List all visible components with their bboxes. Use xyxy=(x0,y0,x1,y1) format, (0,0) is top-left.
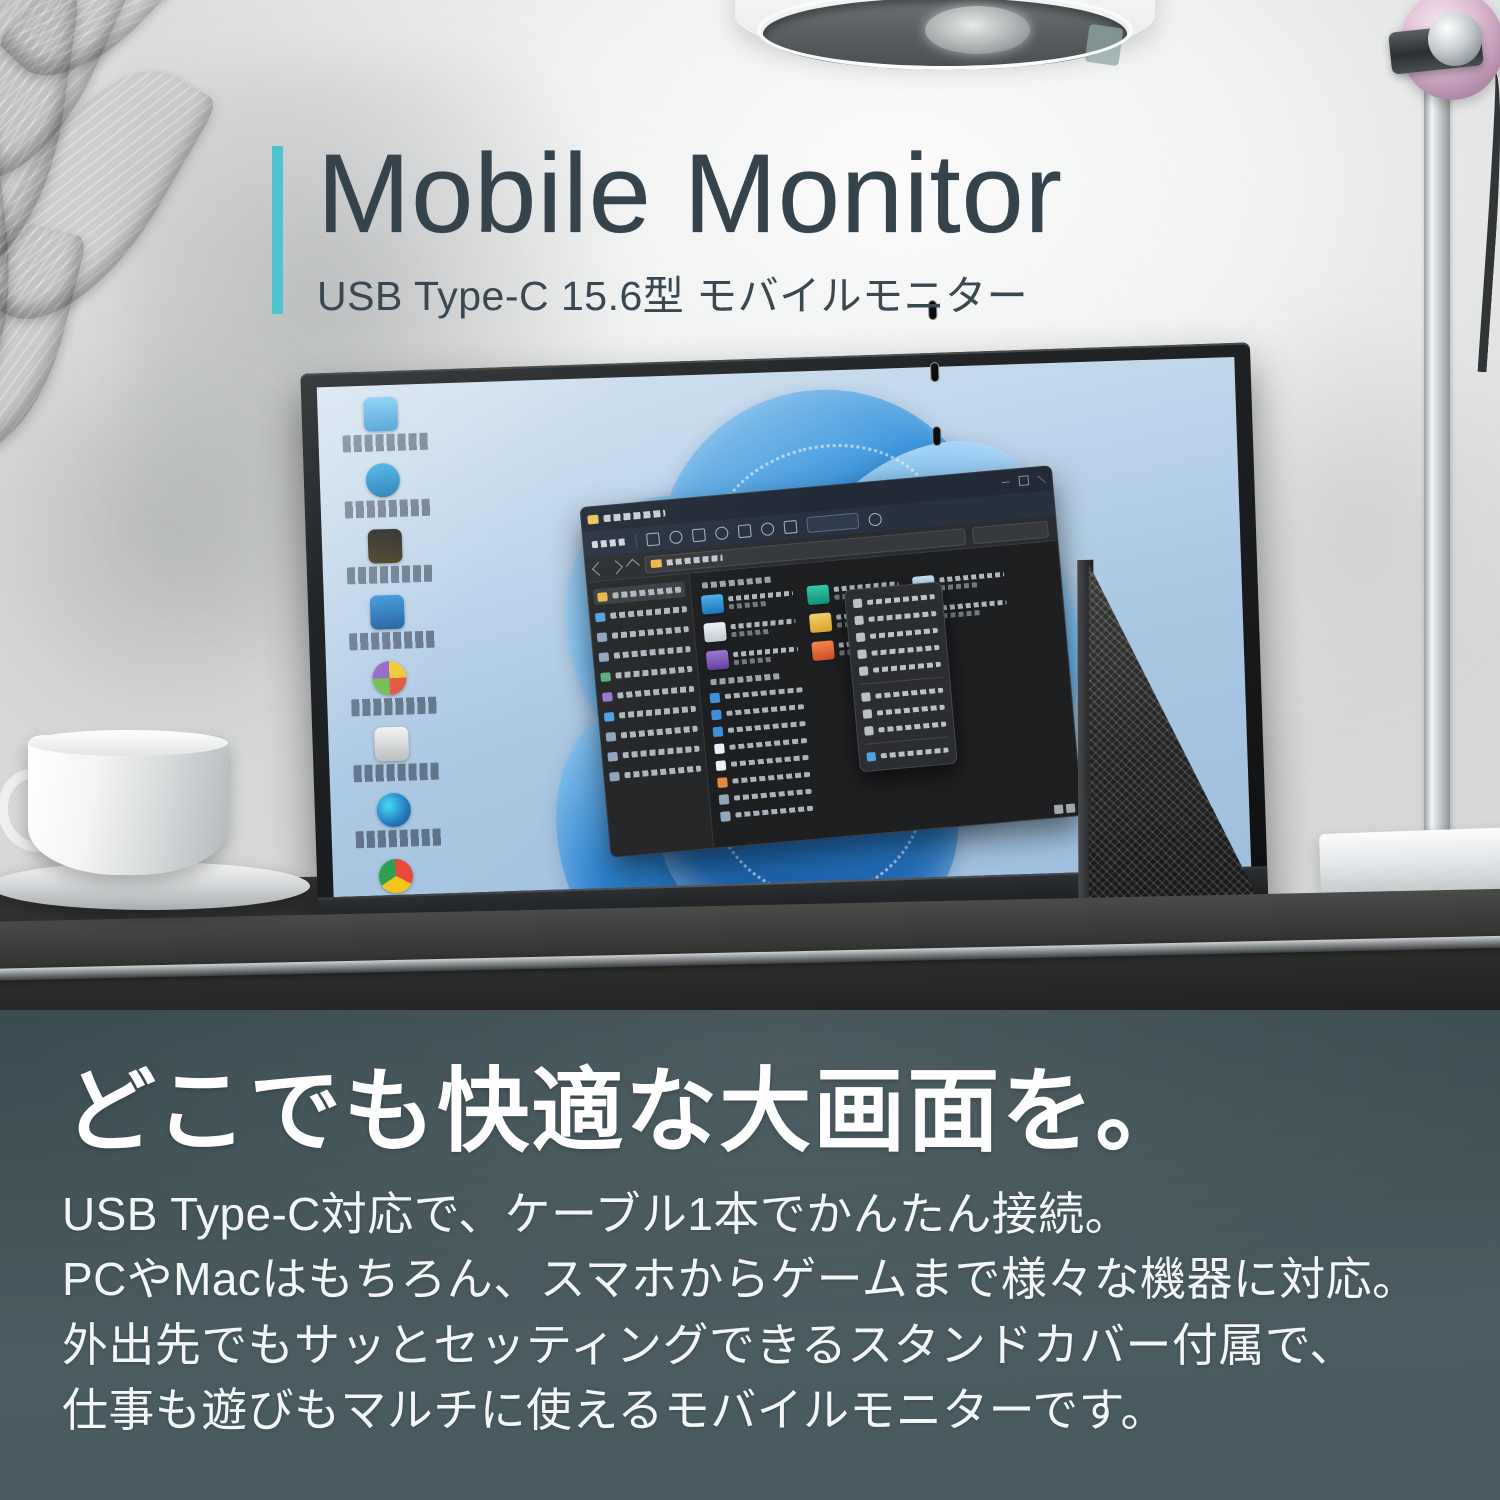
list-item[interactable] xyxy=(706,643,799,670)
ad-page: Mobile Monitor USB Type-C 15.6型 モバイルモニター… xyxy=(0,0,1500,1500)
more-options-icon xyxy=(866,752,876,762)
microsoft-edge-icon xyxy=(376,792,411,827)
body-copy: USB Type-C対応で、ケーブル1本でかんたん接続。 PCやMacはもちろん… xyxy=(62,1182,1418,1443)
menu-label xyxy=(868,611,936,622)
chrome-floor-lamp xyxy=(1390,0,1500,890)
file-content-pane[interactable] xyxy=(690,541,1082,849)
app-icon xyxy=(703,622,727,643)
menu-label xyxy=(881,747,949,758)
file-icon xyxy=(714,743,725,754)
usb-c-port-icon[interactable] xyxy=(930,362,940,382)
penguin-app-icon xyxy=(374,727,409,762)
icon-label xyxy=(349,631,436,651)
usb-c-port-icon[interactable] xyxy=(932,426,942,446)
list-item[interactable] xyxy=(701,588,794,615)
pc-icon xyxy=(607,751,618,761)
nav-label xyxy=(622,746,699,759)
acer-icon xyxy=(370,595,405,630)
list-item[interactable] xyxy=(703,616,796,643)
google-chrome-icon xyxy=(378,858,413,893)
desktop-icon xyxy=(595,612,606,622)
file-name xyxy=(725,687,803,699)
file-name xyxy=(732,772,810,784)
star-icon xyxy=(597,592,608,602)
file-explorer-window[interactable] xyxy=(579,465,1082,858)
menu-label xyxy=(871,645,939,656)
group-header xyxy=(710,673,780,685)
menu-label xyxy=(878,722,946,733)
file-icon xyxy=(715,760,726,771)
nav-label xyxy=(617,686,694,699)
share-icon xyxy=(857,649,867,659)
file-icon xyxy=(719,794,730,805)
desktop-icon-chrome[interactable] xyxy=(352,857,454,897)
cut-icon[interactable] xyxy=(646,532,660,546)
headline: どこでも快適な大画面を。 xyxy=(64,1066,1189,1158)
page-subtitle: USB Type-C 15.6型 モバイルモニター xyxy=(317,262,1063,322)
menu-label xyxy=(873,662,941,673)
nav-label xyxy=(614,646,691,659)
item-label xyxy=(728,591,794,610)
nav-label xyxy=(610,606,687,619)
title-text-group: Mobile Monitor USB Type-C 15.6型 モバイルモニター xyxy=(317,140,1063,322)
lamp-base xyxy=(1319,826,1500,896)
nav-label xyxy=(615,666,692,679)
desktop-icon-colorful-app[interactable] xyxy=(346,659,448,724)
app-icon xyxy=(811,640,835,661)
more-icon[interactable] xyxy=(868,512,882,526)
file-name xyxy=(735,806,813,818)
desktop-icon-edge[interactable] xyxy=(350,791,452,856)
view-toggle[interactable] xyxy=(1054,803,1076,814)
send-to-icon xyxy=(864,726,874,736)
explorer-body xyxy=(587,541,1082,858)
network-icon xyxy=(609,771,620,781)
lamp-ball-joint xyxy=(1428,12,1482,66)
page-title: Mobile Monitor xyxy=(317,140,1063,248)
file-name xyxy=(729,738,807,750)
menu-label xyxy=(867,594,935,605)
desktop-icon-acer[interactable] xyxy=(344,593,446,658)
forward-icon[interactable] xyxy=(609,560,623,574)
nav-label xyxy=(612,626,689,639)
icon-label xyxy=(351,697,438,717)
delete-icon[interactable] xyxy=(761,522,775,536)
folder-icon xyxy=(701,594,725,615)
body-line-3: 外出先でもサッとセッティングできるスタンドカバー付属で、 xyxy=(62,1313,1418,1378)
icon-label xyxy=(353,763,440,783)
up-icon[interactable] xyxy=(626,559,640,573)
properties-icon xyxy=(863,709,873,719)
file-icon xyxy=(720,811,731,822)
icon-label xyxy=(356,828,443,848)
desktop-icon-column xyxy=(337,395,467,897)
window-controls[interactable] xyxy=(1001,474,1046,488)
new-button[interactable] xyxy=(591,538,625,548)
video-icon xyxy=(604,711,615,721)
description-panel: どこでも快適な大画面を。 USB Type-C対応で、ケーブル1本でかんたん接続… xyxy=(0,1010,1500,1500)
window-title xyxy=(603,509,665,521)
title-block: Mobile Monitor USB Type-C 15.6型 モバイルモニター xyxy=(272,140,1063,322)
folder-icon xyxy=(650,559,662,568)
accent-bar xyxy=(272,146,283,314)
nav-label xyxy=(619,706,696,719)
nav-item-network[interactable] xyxy=(609,760,702,784)
grid-view-icon[interactable] xyxy=(1066,803,1076,813)
menu-item[interactable] xyxy=(859,741,956,766)
app-icon xyxy=(706,650,730,671)
divider xyxy=(635,534,637,547)
file-name xyxy=(734,789,812,801)
paste-icon[interactable] xyxy=(692,528,706,542)
icon-label xyxy=(345,499,432,519)
cup-rim xyxy=(28,730,228,756)
details-view-icon[interactable] xyxy=(1054,804,1064,814)
compress-icon xyxy=(861,692,871,702)
lamp-pole xyxy=(1424,70,1450,860)
file-icon xyxy=(717,777,728,788)
music-icon xyxy=(602,692,613,702)
file-name xyxy=(731,755,809,767)
skype-icon xyxy=(365,463,400,498)
file-name xyxy=(728,721,806,733)
document-icon xyxy=(598,652,609,662)
folder-icon xyxy=(809,612,833,633)
menu-label xyxy=(875,688,943,699)
lamp-rim xyxy=(757,0,1133,70)
menu-label xyxy=(870,628,938,639)
icon-label xyxy=(342,433,429,453)
rename-icon[interactable] xyxy=(715,526,729,540)
desktop-icon-penguin[interactable] xyxy=(348,725,450,790)
leaf xyxy=(0,209,87,471)
item-label xyxy=(733,646,799,665)
desktop-icon-pc[interactable] xyxy=(337,395,439,460)
nav-label xyxy=(621,726,698,739)
cloud-icon xyxy=(606,731,617,741)
colorful-app-icon xyxy=(372,661,407,696)
body-line-4: 仕事も遊びもマルチに使えるモバイルモニターです。 xyxy=(62,1378,1418,1443)
item-label xyxy=(730,618,796,637)
picture-icon xyxy=(600,672,611,682)
folder-icon xyxy=(587,514,599,524)
sort-icon[interactable] xyxy=(783,519,797,533)
group-header xyxy=(702,576,772,588)
pc-icon xyxy=(363,397,398,432)
context-menu[interactable] xyxy=(844,581,958,772)
power-cable xyxy=(1466,72,1500,373)
item-label xyxy=(939,572,1005,591)
coffee-cup xyxy=(28,735,228,875)
item-label xyxy=(942,600,1008,619)
product-photo-scene: Mobile Monitor USB Type-C 15.6型 モバイルモニター xyxy=(0,0,1500,1010)
desktop-icon-dark-app[interactable] xyxy=(342,527,444,592)
close-icon[interactable] xyxy=(1037,475,1046,484)
menu-label xyxy=(877,705,945,716)
download-icon xyxy=(597,632,608,642)
pin-icon xyxy=(856,632,866,642)
icon-label xyxy=(347,565,434,585)
plant-leaves xyxy=(0,0,260,440)
file-icon xyxy=(712,726,723,737)
share-icon[interactable] xyxy=(738,524,752,538)
file-icon xyxy=(709,692,720,703)
body-line-1: USB Type-C対応で、ケーブル1本でかんたん接続。 xyxy=(62,1182,1418,1247)
desktop-icon-recycle-bin[interactable] xyxy=(339,461,441,526)
search-input[interactable] xyxy=(972,520,1049,544)
open-with-icon xyxy=(854,615,864,625)
pendant-lamp xyxy=(735,0,1155,90)
file-icon xyxy=(711,709,722,720)
maximize-icon[interactable] xyxy=(1018,475,1029,486)
copy-path-icon xyxy=(859,666,869,676)
back-icon[interactable] xyxy=(592,562,606,576)
dark-app-icon xyxy=(368,529,403,564)
body-line-2: PCやMacはもちろん、スマホからゲームまで様々な機器に対応。 xyxy=(62,1247,1418,1312)
open-icon xyxy=(853,599,863,609)
copy-icon[interactable] xyxy=(669,530,683,544)
view-dropdown[interactable] xyxy=(806,512,859,533)
minimize-icon[interactable] xyxy=(1002,478,1011,487)
app-icon xyxy=(806,584,830,605)
nav-label xyxy=(624,765,701,778)
file-name xyxy=(726,704,804,716)
nav-label xyxy=(612,587,681,599)
path-text xyxy=(666,555,722,566)
